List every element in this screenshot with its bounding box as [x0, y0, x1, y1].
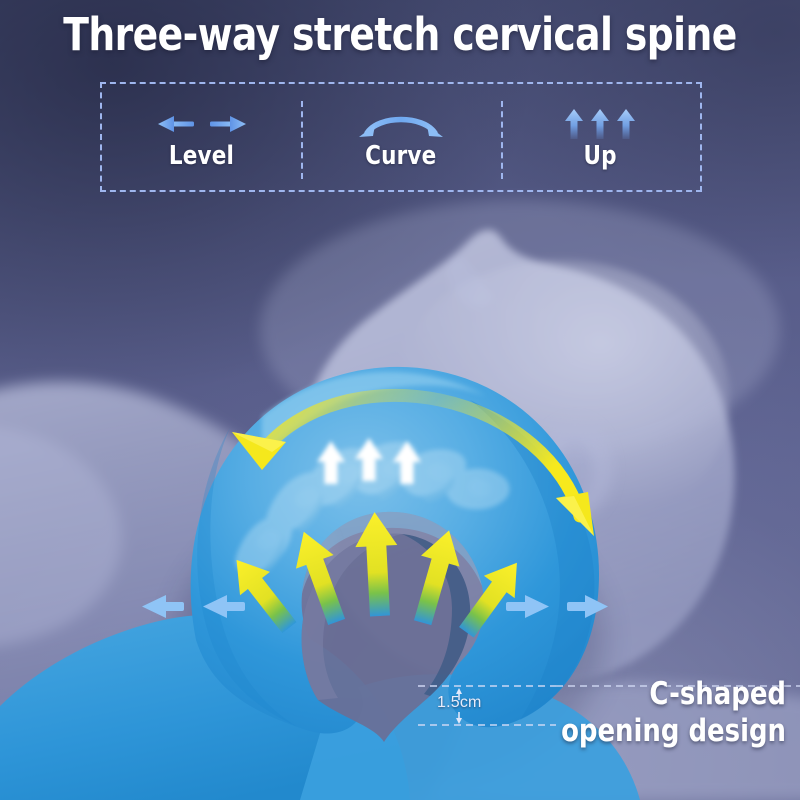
- caption-c-shaped-opening: C-shaped opening design: [479, 676, 786, 750]
- caption-line-2: opening design: [479, 713, 786, 750]
- caption-line-1: C-shaped: [479, 676, 786, 713]
- product-marketing-image: Three-way stretch cervical spine: [0, 0, 800, 800]
- measurement-label: 1.5cm: [437, 694, 482, 712]
- blue-arrow-left-outer: [142, 595, 184, 618]
- white-up-arrows: [317, 438, 421, 484]
